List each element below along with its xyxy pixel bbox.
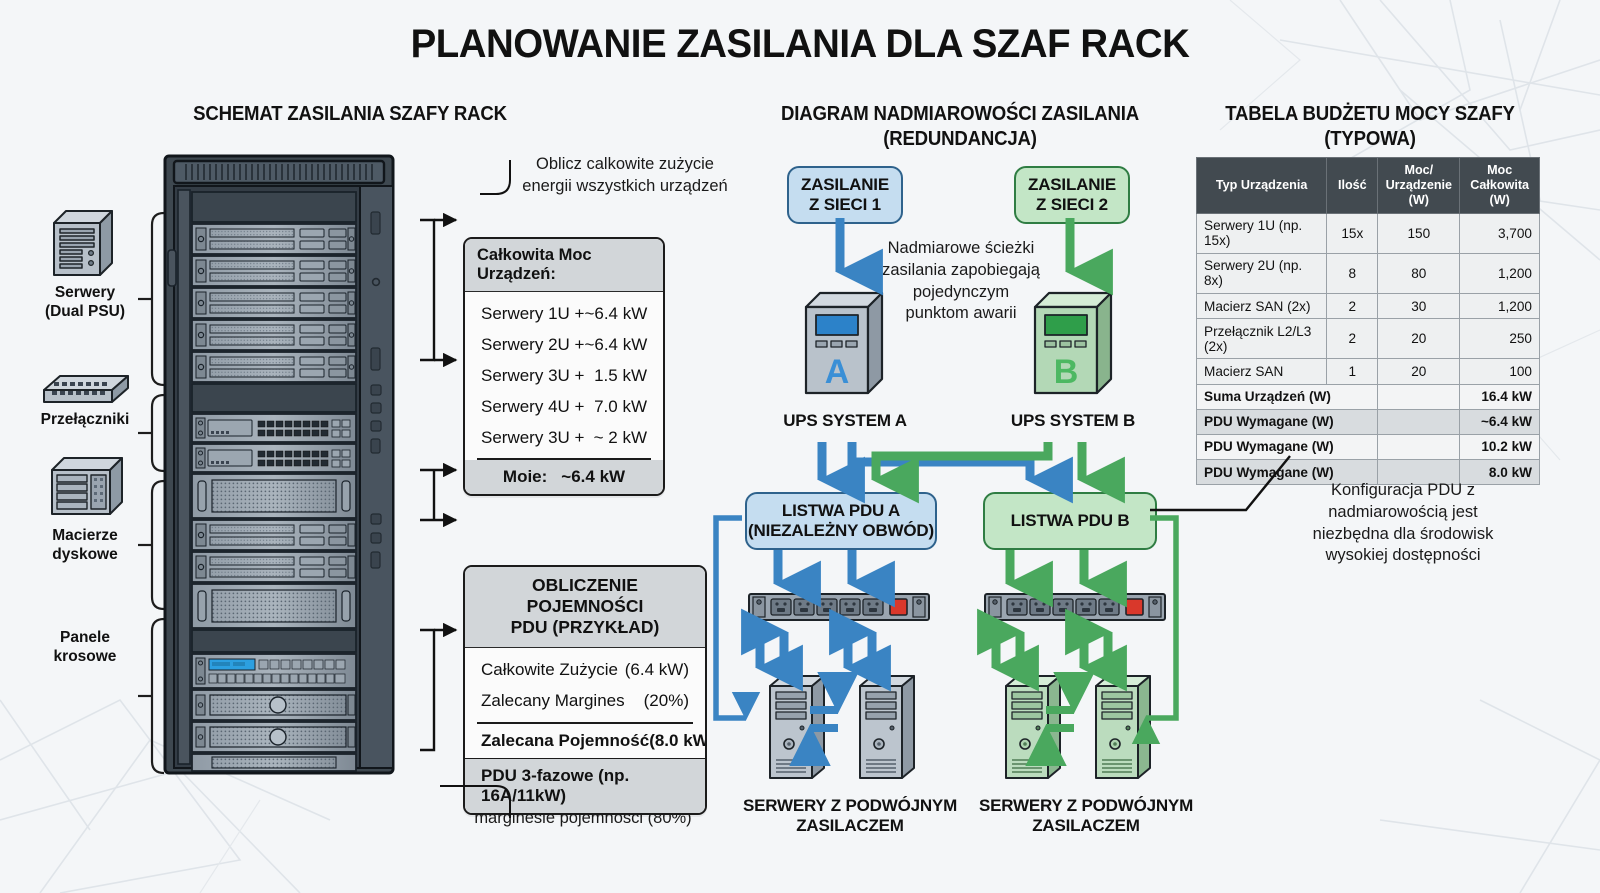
section-title-budget: TABELA BUDŻETU MOCY SZAFY (TYPOWA) [1203, 102, 1538, 152]
budget-note-connector [1150, 452, 1310, 562]
network-switch-icon [38, 368, 134, 412]
th-total-power: Moc Całkowita (W) [1460, 158, 1540, 214]
legend-servers-l1: Serwery [25, 283, 145, 302]
th-tp-l1: Moc [1464, 163, 1535, 178]
cell-qty: 8 [1327, 253, 1378, 293]
cell-qty: 1 [1327, 359, 1378, 384]
legend-servers-l2: (Dual PSU) [25, 302, 145, 321]
cell-device: Macierz SAN [1197, 359, 1327, 384]
legend-patch-l1: Panele [25, 628, 145, 647]
section-title-rack: SCHEMAT ZASILANIA SZAFY RACK [108, 102, 592, 127]
table-row: Przełącznik L2/L3 (2x) 2 20 250 [1197, 319, 1540, 359]
cell-ppd: 30 [1378, 293, 1460, 318]
th-ppd-l3: (W) [1382, 193, 1455, 208]
cell-summary-value: 10.2 kW [1460, 434, 1540, 459]
rack-cabinet-illustration [160, 152, 405, 777]
legend-disk-l1: Macierze [25, 526, 145, 545]
cell-device: Macierz SAN (2x) [1197, 293, 1327, 318]
note-right-l3: niezbędna dla środowisk [1288, 524, 1518, 546]
th-power-per-device: Moc/ Urządzenie (W) [1378, 158, 1460, 214]
cell-summary-label: Suma Urządzeń (W) [1197, 384, 1378, 409]
section-title-budget-line2: (TYPOWA) [1203, 127, 1538, 152]
cell-ppd: 20 [1378, 359, 1460, 384]
legend-label-patch-panels: Panele krosowe [25, 628, 145, 667]
legend-label-switches: Przełączniki [22, 410, 148, 429]
th-quantity: Ilość [1327, 158, 1378, 214]
cell-ppd: 20 [1378, 319, 1460, 359]
tower-server-icon [42, 205, 128, 279]
page-title: PLANOWANIE ZASILANIA DLA SZAF RACK [32, 22, 1568, 67]
cell-ppd: 150 [1378, 213, 1460, 253]
cell-total: 1,200 [1460, 293, 1540, 318]
cell-total: 3,700 [1460, 213, 1540, 253]
legend-label-disk-arrays: Macierze dyskowe [25, 526, 145, 565]
table-row: Macierz SAN 1 20 100 [1197, 359, 1540, 384]
cell-device: Serwery 1U (np. 15x) [1197, 213, 1327, 253]
th-ppd-l1: Moc/ [1382, 163, 1455, 178]
table-header-row: Typ Urządzenia Ilość Moc/ Urządzenie (W)… [1197, 158, 1540, 214]
table-summary-row: Suma Urządzeń (W) 16.4 kW [1197, 384, 1540, 409]
cell-total: 1,200 [1460, 253, 1540, 293]
cell-total: 100 [1460, 359, 1540, 384]
section-title-budget-line1: TABELA BUDŻETU MOCY SZAFY [1203, 102, 1538, 127]
disk-array-icon [42, 452, 130, 522]
cell-summary-blank [1378, 434, 1460, 459]
rack-callout-connectors [400, 150, 700, 850]
section-title-redundancy: DIAGRAM NADMIAROWOŚCI ZASILANIA (REDUNDA… [728, 102, 1193, 152]
table-row: Serwery 1U (np. 15x) 15x 150 3,700 [1197, 213, 1540, 253]
th-tp-l3: (W) [1464, 193, 1535, 208]
cell-summary-value: ~6.4 kW [1460, 409, 1540, 434]
table-row: Macierz SAN (2x) 2 30 1,200 [1197, 293, 1540, 318]
cell-summary-value: 16.4 kW [1460, 384, 1540, 409]
cell-summary-label: PDU Wymagane (W) [1197, 409, 1378, 434]
th-tp-l2: Całkowita [1464, 178, 1535, 193]
note-right-l2: nadmiarowością jest [1288, 502, 1518, 524]
note-pdu-redundancy: Konfiguracja PDU z nadmiarowością jest n… [1288, 480, 1518, 567]
cell-summary-blank [1378, 384, 1460, 409]
note-right-l1: Konfiguracja PDU z [1288, 480, 1518, 502]
th-device-type: Typ Urządzenia [1197, 158, 1327, 214]
table-row: Serwery 2U (np. 8x) 8 80 1,200 [1197, 253, 1540, 293]
legend-patch-l2: krosowe [25, 647, 145, 666]
cell-summary-blank [1378, 409, 1460, 434]
section-title-redundancy-line1: DIAGRAM NADMIAROWOŚCI ZASILANIA [728, 102, 1193, 127]
cell-device: Serwery 2U (np. 8x) [1197, 253, 1327, 293]
th-ppd-l2: Urządzenie [1382, 178, 1455, 193]
cell-ppd: 80 [1378, 253, 1460, 293]
redundancy-flow-arrows [700, 150, 1200, 870]
legend-disk-l2: dyskowe [25, 545, 145, 564]
section-title-redundancy-line2: (REDUNDANCJA) [728, 127, 1193, 152]
note-right-l4: wysokiej dostępności [1288, 545, 1518, 567]
cell-total: 250 [1460, 319, 1540, 359]
cell-qty: 2 [1327, 319, 1378, 359]
legend-label-servers: Serwery (Dual PSU) [25, 283, 145, 322]
cell-device: Przełącznik L2/L3 (2x) [1197, 319, 1327, 359]
cell-qty: 2 [1327, 293, 1378, 318]
cell-qty: 15x [1327, 213, 1378, 253]
table-summary-row: PDU Wymagane (W) ~6.4 kW [1197, 409, 1540, 434]
power-budget-table: Typ Urządzenia Ilość Moc/ Urządzenie (W)… [1196, 157, 1540, 485]
